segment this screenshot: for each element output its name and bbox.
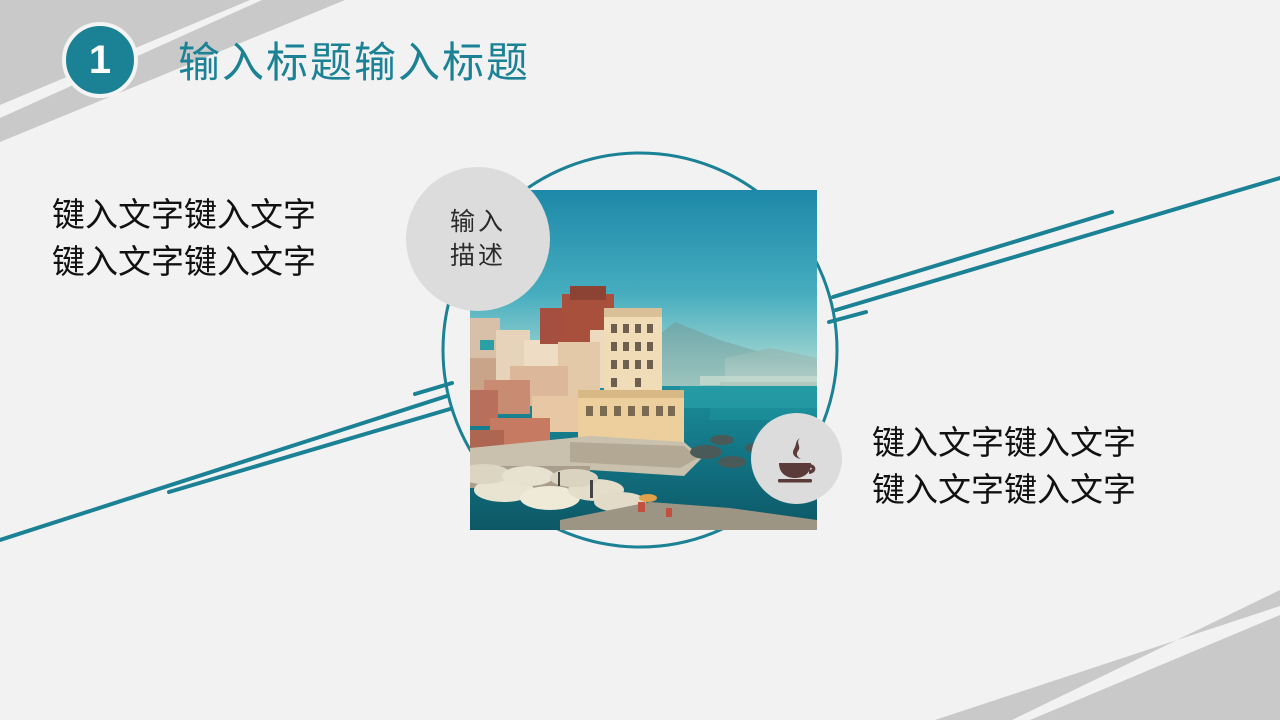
right-text-line-2: 键入文字键入文字 bbox=[872, 467, 1136, 514]
slide-header: 1 输入标题输入标题 bbox=[0, 0, 1280, 120]
description-line-1: 输入 bbox=[450, 205, 506, 239]
left-body-text: 键入文字键入文字 键入文字键入文字 bbox=[52, 192, 316, 286]
left-text-line-2: 键入文字键入文字 bbox=[52, 239, 316, 286]
slide-canvas: 1 输入标题输入标题 bbox=[0, 0, 1280, 720]
description-bubble-text: 输入 描述 bbox=[450, 205, 506, 273]
section-number-badge: 1 bbox=[62, 22, 138, 98]
description-line-2: 描述 bbox=[450, 239, 506, 273]
coffee-bubble bbox=[751, 413, 842, 504]
left-text-line-1: 键入文字键入文字 bbox=[52, 192, 316, 239]
coffee-cup-icon bbox=[771, 433, 823, 485]
description-bubble: 输入 描述 bbox=[406, 167, 550, 311]
section-number: 1 bbox=[89, 40, 111, 80]
right-body-text: 键入文字键入文字 键入文字键入文字 bbox=[872, 420, 1136, 514]
page-title: 输入标题输入标题 bbox=[178, 29, 530, 90]
right-text-line-1: 键入文字键入文字 bbox=[872, 420, 1136, 467]
